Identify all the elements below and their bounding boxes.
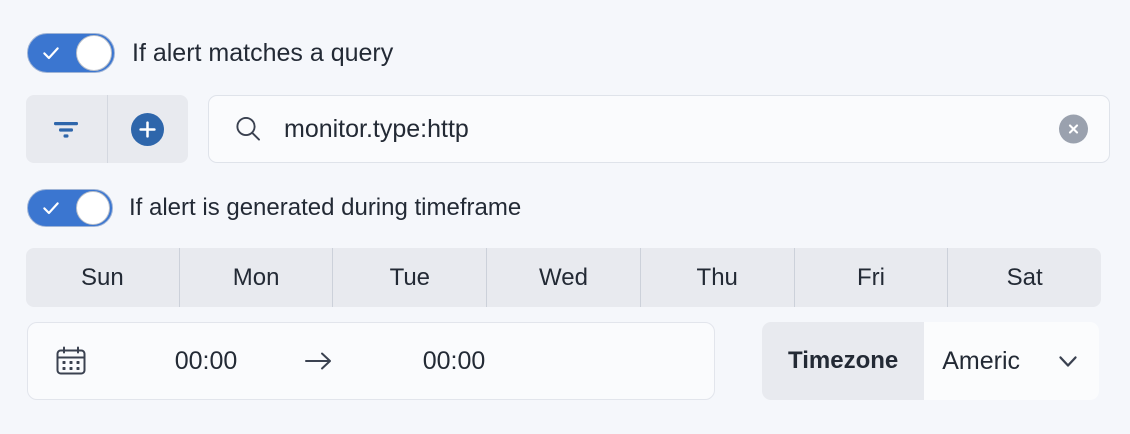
arrow-right-icon	[302, 348, 336, 374]
query-button-group	[26, 95, 188, 163]
query-search-field[interactable]: monitor.type:http	[208, 95, 1110, 163]
query-rule-row: If alert matches a query	[27, 33, 393, 73]
day-button-sat[interactable]: Sat	[947, 248, 1101, 307]
timezone-label: Timezone	[762, 322, 924, 400]
chevron-down-icon	[1054, 347, 1082, 375]
time-to-value[interactable]: 00:00	[364, 347, 544, 376]
timeframe-rule-label: If alert is generated during timeframe	[129, 194, 521, 222]
filter-icon	[52, 118, 80, 140]
timezone-value: Americ	[942, 347, 1020, 376]
check-icon	[41, 198, 61, 218]
day-button-sun[interactable]: Sun	[26, 248, 179, 307]
timeframe-rule-toggle[interactable]	[27, 189, 113, 227]
close-icon	[1066, 122, 1081, 137]
add-filter-button[interactable]	[107, 95, 189, 163]
day-button-thu[interactable]: Thu	[640, 248, 794, 307]
day-button-mon[interactable]: Mon	[179, 248, 333, 307]
toggle-knob	[76, 35, 112, 71]
search-icon	[232, 113, 264, 145]
day-button-tue[interactable]: Tue	[332, 248, 486, 307]
time-range-field[interactable]: 00:00 00:00	[27, 322, 715, 400]
day-button-wed[interactable]: Wed	[486, 248, 640, 307]
timezone-control: Timezone Americ	[762, 322, 1099, 400]
query-rule-label: If alert matches a query	[132, 39, 393, 68]
day-of-week-selector: Sun Mon Tue Wed Thu Fri Sat	[26, 248, 1101, 307]
toggle-knob	[76, 191, 110, 225]
calendar-icon	[54, 344, 88, 378]
query-bar: monitor.type:http	[26, 95, 1110, 163]
clear-search-button[interactable]	[1059, 115, 1088, 144]
plus-icon	[138, 120, 157, 139]
timezone-select[interactable]: Americ	[924, 322, 1099, 400]
time-from-value[interactable]: 00:00	[116, 347, 296, 376]
check-icon	[41, 43, 61, 63]
timeframe-rule-row: If alert is generated during timeframe	[27, 189, 521, 227]
filter-button[interactable]	[26, 95, 107, 163]
query-search-value: monitor.type:http	[284, 115, 1109, 144]
plus-circle-icon	[131, 113, 164, 146]
query-rule-toggle[interactable]	[27, 33, 115, 73]
day-button-fri[interactable]: Fri	[794, 248, 948, 307]
alert-conditions-panel: If alert matches a query	[0, 0, 1130, 434]
